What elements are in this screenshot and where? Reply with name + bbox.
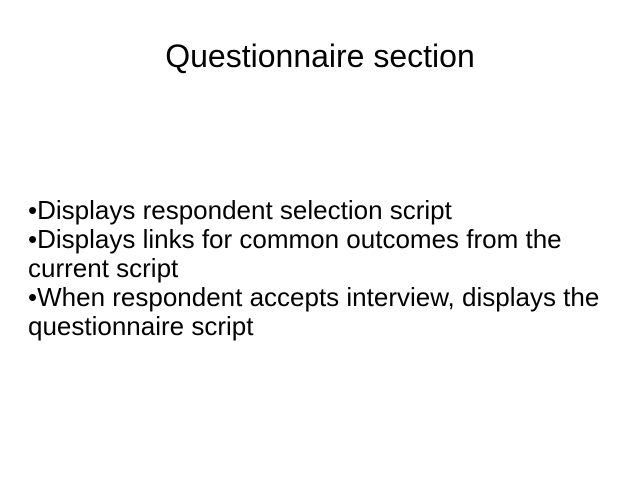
page-title: Questionnaire section bbox=[0, 36, 640, 76]
body-line-text: When respondent accepts interview, displ… bbox=[37, 282, 599, 312]
slide-body-text: •Displays respondent selection script •D… bbox=[28, 196, 620, 341]
body-line: current script bbox=[28, 254, 620, 283]
body-line-text: questionnaire script bbox=[28, 311, 253, 341]
slide-canvas: Questionnaire section •Displays responde… bbox=[0, 0, 640, 480]
body-line: •When respondent accepts interview, disp… bbox=[28, 283, 620, 312]
bullet-icon: • bbox=[28, 282, 37, 312]
body-line: •Displays respondent selection script bbox=[28, 196, 620, 225]
bullet-icon: • bbox=[28, 195, 37, 225]
body-line: •Displays links for common outcomes from… bbox=[28, 225, 620, 254]
bullet-icon: • bbox=[28, 224, 37, 254]
body-line: questionnaire script bbox=[28, 312, 620, 341]
body-line-text: current script bbox=[28, 253, 178, 283]
body-line-text: Displays links for common outcomes from … bbox=[37, 224, 562, 254]
body-line-text: Displays respondent selection script bbox=[37, 195, 452, 225]
